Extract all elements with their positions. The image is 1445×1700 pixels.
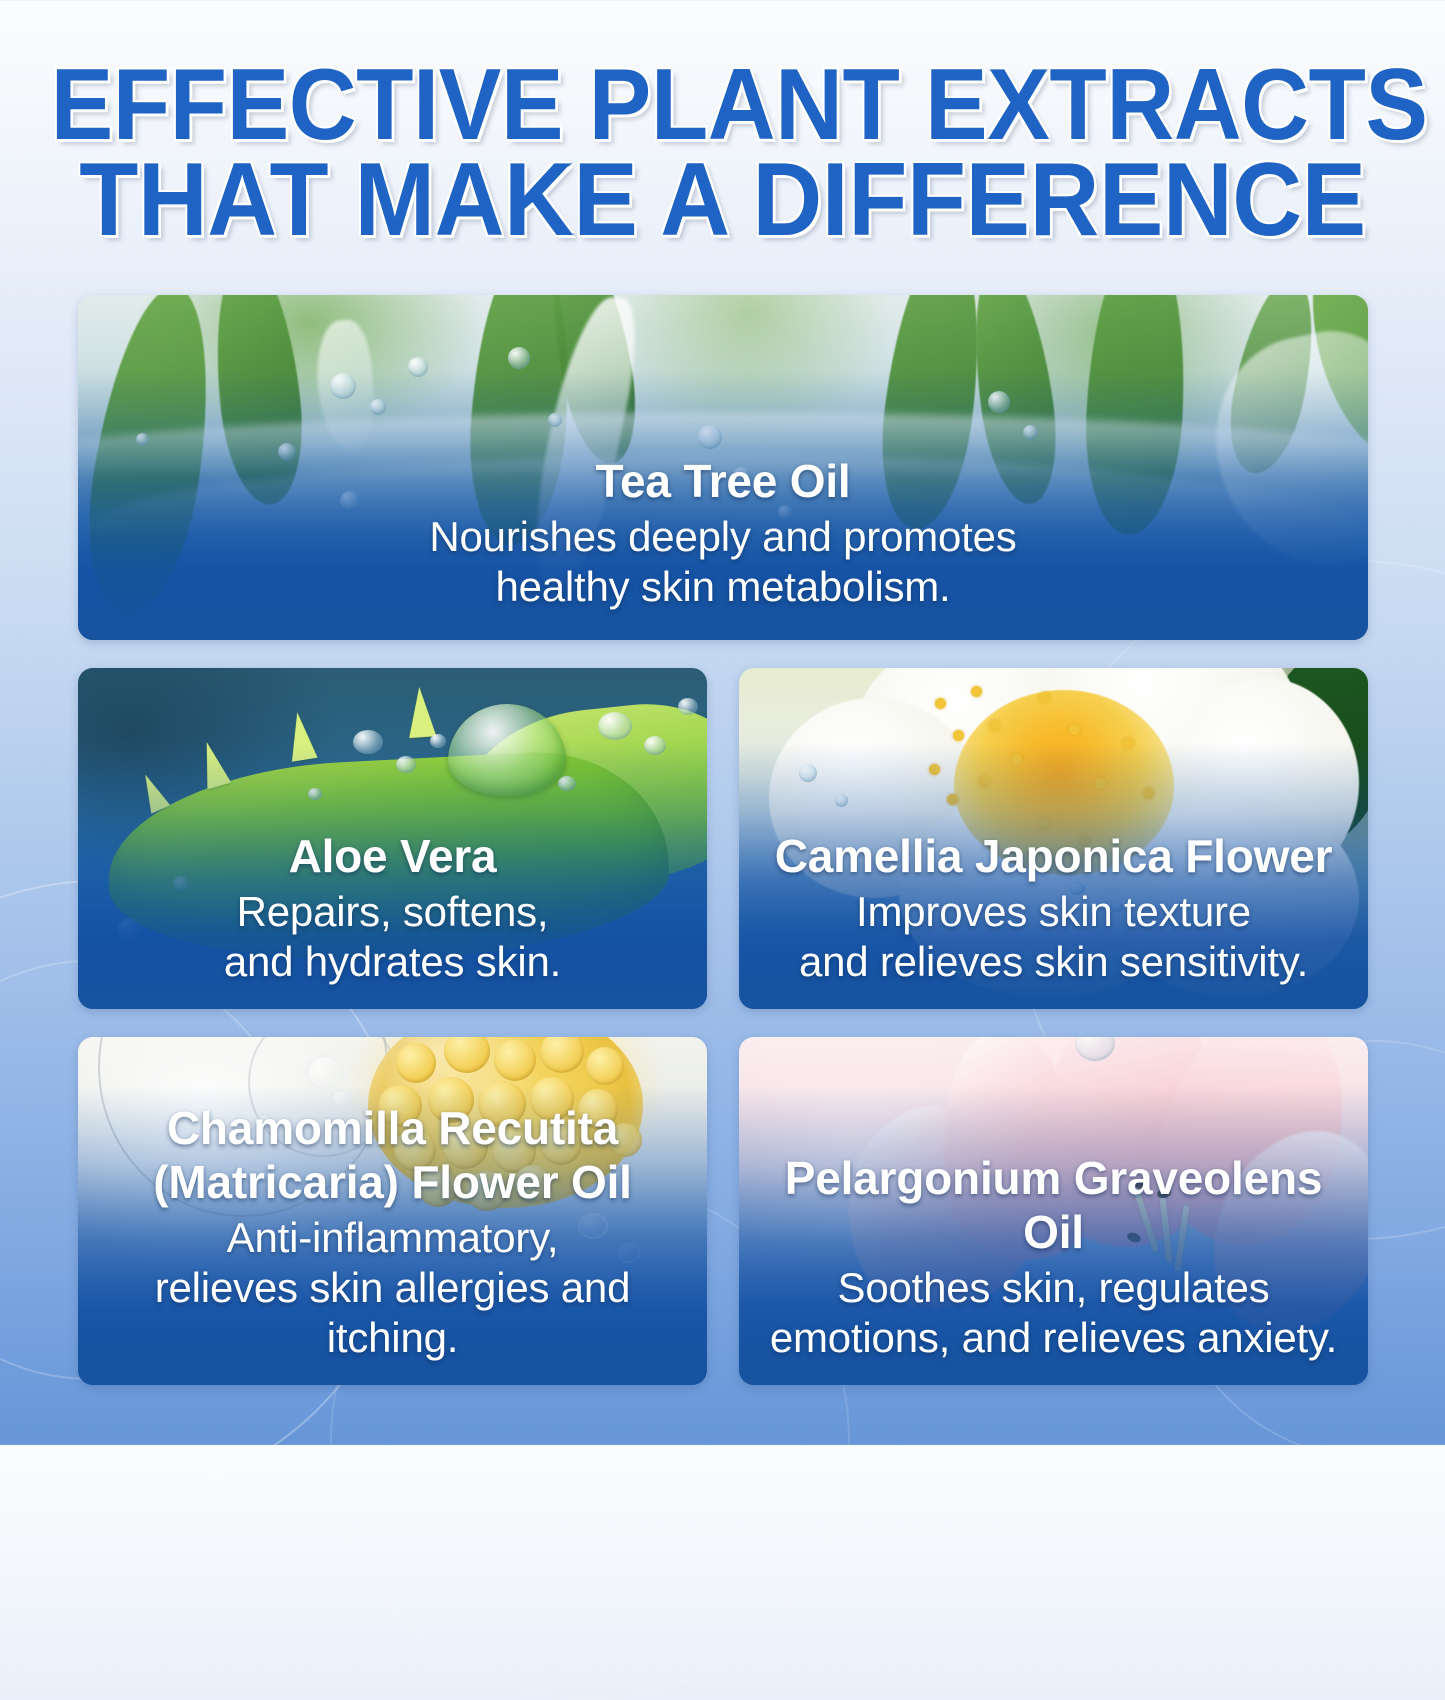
ingredient-card-camellia-japonica-flower[interactable]: Camellia Japonica Flower Improves skin t… [739, 668, 1368, 1009]
ingredient-card-chamomilla-recutita-flower-oil[interactable]: Chamomilla Recutita (Matricaria) Flower … [78, 1037, 707, 1385]
ingredient-card-pelargonium-graveolens-oil[interactable]: Pelargonium Graveolens Oil Soothes skin,… [739, 1037, 1368, 1385]
card-caption: Camellia Japonica Flower Improves skin t… [739, 829, 1368, 1009]
ingredient-description: Improves skin texture and relieves skin … [763, 887, 1344, 987]
ingredient-description: Soothes skin, regulates emotions, and re… [763, 1263, 1344, 1363]
ingredient-card-aloe-vera[interactable]: Aloe Vera Repairs, softens, and hydrates… [78, 668, 707, 1009]
card-caption: Aloe Vera Repairs, softens, and hydrates… [78, 829, 707, 1009]
card-row-3: Chamomilla Recutita (Matricaria) Flower … [78, 1037, 1368, 1385]
ingredient-title: Tea Tree Oil [102, 454, 1344, 508]
ingredient-description: Nourishes deeply and promotes healthy sk… [102, 512, 1344, 612]
ingredient-title: Pelargonium Graveolens Oil [763, 1151, 1344, 1259]
ingredient-title: Aloe Vera [102, 829, 683, 883]
ingredient-card-tea-tree-oil[interactable]: Tea Tree Oil Nourishes deeply and promot… [78, 295, 1368, 640]
card-caption: Chamomilla Recutita (Matricaria) Flower … [78, 1101, 707, 1385]
card-caption: Tea Tree Oil Nourishes deeply and promot… [78, 454, 1368, 640]
ingredient-title: Chamomilla Recutita (Matricaria) Flower … [102, 1101, 683, 1209]
ingredient-description: Anti-inflammatory, relieves skin allergi… [102, 1213, 683, 1363]
ingredient-title: Camellia Japonica Flower [763, 829, 1344, 883]
card-row-2: Aloe Vera Repairs, softens, and hydrates… [78, 668, 1368, 1009]
headline-line-2: THAT MAKE A DIFFERENCE [51, 153, 1395, 248]
ingredient-card-grid: Tea Tree Oil Nourishes deeply and promot… [78, 295, 1368, 1385]
card-row-1: Tea Tree Oil Nourishes deeply and promot… [78, 295, 1368, 640]
card-caption: Pelargonium Graveolens Oil Soothes skin,… [739, 1151, 1368, 1385]
headline-line-1: EFFECTIVE PLANT EXTRACTS [51, 58, 1395, 153]
ingredient-description: Repairs, softens, and hydrates skin. [102, 887, 683, 987]
page-title: EFFECTIVE PLANT EXTRACTS THAT MAKE A DIF… [0, 58, 1445, 248]
